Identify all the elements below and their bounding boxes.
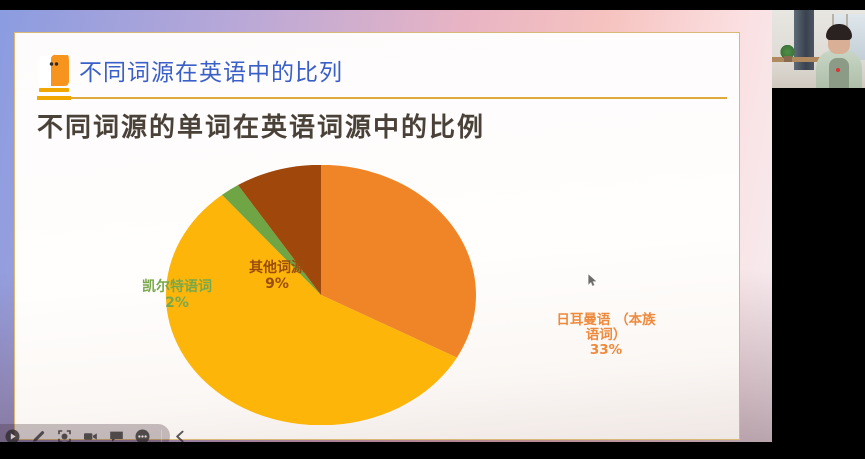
slide-card: 不同词源在英语中的比列 不同词源的单词在英语词源中的比例: [14, 32, 740, 440]
bottom-letterbox: [0, 449, 865, 459]
header-accent-bar: [37, 96, 71, 100]
page-title: 不同词源在英语中的比列: [79, 53, 343, 87]
chart-title: 不同词源的单词在英语词源中的比例: [37, 107, 717, 144]
pie-label-celtic: 凯尔特语词 2%: [117, 280, 237, 311]
pencil-button[interactable]: [30, 428, 47, 443]
presentation-stage: 不同词源在英语中的比列 不同词源的单词在英语词源中的比例: [0, 10, 772, 442]
top-letterbox: [0, 0, 865, 10]
screenshot-button[interactable]: [56, 428, 73, 443]
presenter-video[interactable]: [772, 10, 865, 88]
more-button[interactable]: [134, 428, 151, 443]
avatar-bear-icon: [35, 53, 73, 93]
chat-button[interactable]: [108, 428, 125, 443]
pie-label-germanic: 日耳曼语 （本族 语词） 33%: [517, 313, 695, 358]
video-panel-background: [772, 88, 865, 442]
video-camera-button[interactable]: [82, 428, 99, 443]
play-button[interactable]: [4, 428, 21, 443]
header-divider: [37, 97, 727, 99]
screen-root: 不同词源在英语中的比列 不同词源的单词在英语词源中的比例: [0, 0, 865, 459]
bottom-right-letterbox: [772, 442, 865, 459]
slide-header: 不同词源在英语中的比列: [23, 49, 725, 105]
pie-chart: 其他词源 9% 凯尔特语词 2% 日耳曼语 （本族 语词） 33% 希腊语和拉丁…: [15, 143, 741, 439]
player-controls: [4, 425, 189, 442]
collapse-button[interactable]: [172, 428, 189, 443]
control-divider: [161, 430, 162, 442]
mouse-cursor-icon: [588, 274, 597, 287]
